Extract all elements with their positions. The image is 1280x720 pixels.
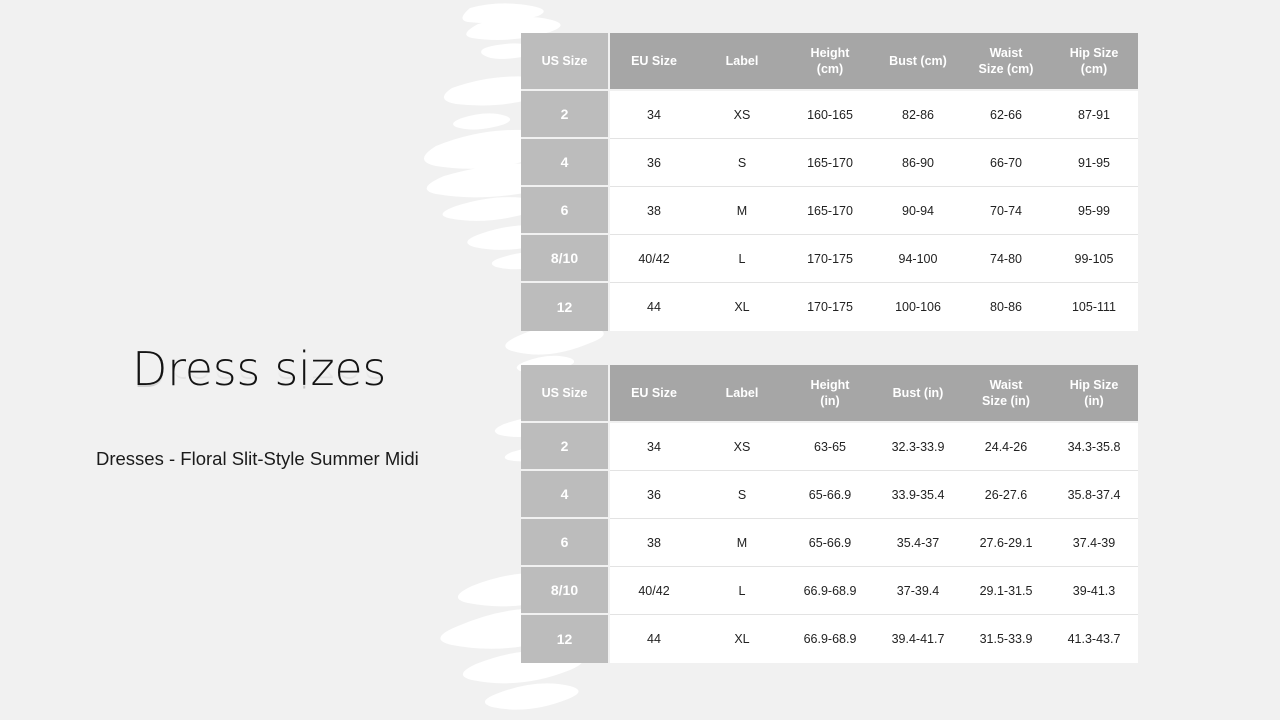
cell-hip: 37.4-39 [1050, 519, 1138, 567]
cell-eu-size: 38 [610, 187, 698, 235]
cell-bust: 100-106 [874, 283, 962, 331]
cell-waist: 70-74 [962, 187, 1050, 235]
cell-label: XS [698, 423, 786, 471]
cell-label: XS [698, 91, 786, 139]
cell-height: 170-175 [786, 283, 874, 331]
cell-bust: 32.3-33.9 [874, 423, 962, 471]
header-line-2: (cm) [817, 62, 843, 76]
cell-height: 65-66.9 [786, 471, 874, 519]
header-line-1: US Size [542, 54, 588, 68]
table-row: 8/10 40/42 L 66.9-68.9 37-39.4 29.1-31.5… [521, 567, 1138, 615]
table-row: 6 38 M 165-170 90-94 70-74 95-99 [521, 187, 1138, 235]
cell-waist: 74-80 [962, 235, 1050, 283]
cell-height: 63-65 [786, 423, 874, 471]
cell-us-size: 4 [521, 471, 610, 519]
header-line-1: Label [726, 54, 759, 68]
col-header-bust: Bust (cm) [874, 33, 962, 91]
cell-label: M [698, 519, 786, 567]
cell-bust: 82-86 [874, 91, 962, 139]
cell-label: L [698, 567, 786, 615]
cell-height: 165-170 [786, 187, 874, 235]
table-row: 2 34 XS 63-65 32.3-33.9 24.4-26 34.3-35.… [521, 423, 1138, 471]
cell-bust: 37-39.4 [874, 567, 962, 615]
col-header-hip: Hip Size (cm) [1050, 33, 1138, 91]
table-row: 6 38 M 65-66.9 35.4-37 27.6-29.1 37.4-39 [521, 519, 1138, 567]
cell-us-size: 6 [521, 187, 610, 235]
cell-bust: 86-90 [874, 139, 962, 187]
table-row: 2 34 XS 160-165 82-86 62-66 87-91 [521, 91, 1138, 139]
col-header-height: Height (cm) [786, 33, 874, 91]
cell-bust: 35.4-37 [874, 519, 962, 567]
cell-us-size: 2 [521, 423, 610, 471]
cell-eu-size: 44 [610, 283, 698, 331]
col-header-label: Label [698, 365, 786, 423]
cell-height: 160-165 [786, 91, 874, 139]
cell-us-size: 12 [521, 615, 610, 663]
cell-us-size: 2 [521, 91, 610, 139]
table-row: 8/10 40/42 L 170-175 94-100 74-80 99-105 [521, 235, 1138, 283]
cell-height: 165-170 [786, 139, 874, 187]
cell-bust: 33.9-35.4 [874, 471, 962, 519]
cell-hip: 95-99 [1050, 187, 1138, 235]
header-line-1: EU Size [631, 386, 677, 400]
table-row: 12 44 XL 66.9-68.9 39.4-41.7 31.5-33.9 4… [521, 615, 1138, 663]
cell-bust: 90-94 [874, 187, 962, 235]
cell-label: XL [698, 283, 786, 331]
cell-label: M [698, 187, 786, 235]
cell-us-size: 8/10 [521, 235, 610, 283]
header-line-2: Size (cm) [979, 62, 1034, 76]
cell-bust: 39.4-41.7 [874, 615, 962, 663]
table-header-row: US Size EU Size Label Height (cm) Bust (… [521, 33, 1138, 91]
col-header-eu-size: EU Size [610, 365, 698, 423]
cell-label: S [698, 471, 786, 519]
cell-label: XL [698, 615, 786, 663]
cell-waist: 80-86 [962, 283, 1050, 331]
header-line-2: (cm) [1081, 62, 1107, 76]
cell-us-size: 12 [521, 283, 610, 331]
header-line-1: Hip Size [1070, 46, 1119, 60]
header-line-1: Bust (in) [893, 386, 944, 400]
cell-waist: 66-70 [962, 139, 1050, 187]
header-line-2: Size (in) [982, 394, 1030, 408]
header-line-1: Bust (cm) [889, 54, 947, 68]
cell-eu-size: 38 [610, 519, 698, 567]
col-header-bust: Bust (in) [874, 365, 962, 423]
col-header-waist: Waist Size (cm) [962, 33, 1050, 91]
page-title-reflection: Dress sizes [132, 361, 456, 395]
header-line-1: Label [726, 386, 759, 400]
col-header-height: Height (in) [786, 365, 874, 423]
cell-height: 66.9-68.9 [786, 615, 874, 663]
cell-waist: 27.6-29.1 [962, 519, 1050, 567]
cell-label: S [698, 139, 786, 187]
title-block: Dress sizes Dress sizes Dresses - Floral… [96, 343, 456, 474]
cell-eu-size: 36 [610, 139, 698, 187]
cell-hip: 34.3-35.8 [1050, 423, 1138, 471]
header-line-1: Height [811, 378, 850, 392]
table-header-row: US Size EU Size Label Height (in) Bust (… [521, 365, 1138, 423]
cell-waist: 26-27.6 [962, 471, 1050, 519]
cell-height: 170-175 [786, 235, 874, 283]
col-header-label: Label [698, 33, 786, 91]
cell-hip: 35.8-37.4 [1050, 471, 1138, 519]
cell-us-size: 8/10 [521, 567, 610, 615]
header-line-2: (in) [1084, 394, 1103, 408]
cell-hip: 99-105 [1050, 235, 1138, 283]
slide-canvas: Dress sizes Dress sizes Dresses - Floral… [0, 0, 1280, 720]
col-header-waist: Waist Size (in) [962, 365, 1050, 423]
header-line-1: Hip Size [1070, 378, 1119, 392]
cell-waist: 29.1-31.5 [962, 567, 1050, 615]
cell-waist: 62-66 [962, 91, 1050, 139]
cell-eu-size: 40/42 [610, 235, 698, 283]
size-chart-table-cm: US Size EU Size Label Height (cm) Bust (… [521, 33, 1138, 331]
cell-us-size: 6 [521, 519, 610, 567]
cell-hip: 91-95 [1050, 139, 1138, 187]
cell-hip: 105-111 [1050, 283, 1138, 331]
table-row: 12 44 XL 170-175 100-106 80-86 105-111 [521, 283, 1138, 331]
header-line-1: Height [811, 46, 850, 60]
header-line-1: US Size [542, 386, 588, 400]
size-chart-table-in: US Size EU Size Label Height (in) Bust (… [521, 365, 1138, 663]
cell-eu-size: 44 [610, 615, 698, 663]
cell-eu-size: 36 [610, 471, 698, 519]
cell-height: 65-66.9 [786, 519, 874, 567]
col-header-us-size: US Size [521, 365, 610, 423]
table-row: 4 36 S 165-170 86-90 66-70 91-95 [521, 139, 1138, 187]
cell-hip: 41.3-43.7 [1050, 615, 1138, 663]
cell-waist: 24.4-26 [962, 423, 1050, 471]
page-subtitle: Dresses - Floral Slit-Style Summer Midi [96, 445, 436, 474]
col-header-eu-size: EU Size [610, 33, 698, 91]
cell-waist: 31.5-33.9 [962, 615, 1050, 663]
cell-height: 66.9-68.9 [786, 567, 874, 615]
header-line-2: (in) [820, 394, 839, 408]
cell-eu-size: 40/42 [610, 567, 698, 615]
col-header-hip: Hip Size (in) [1050, 365, 1138, 423]
cell-us-size: 4 [521, 139, 610, 187]
cell-label: L [698, 235, 786, 283]
header-line-1: EU Size [631, 54, 677, 68]
cell-eu-size: 34 [610, 91, 698, 139]
header-line-1: Waist [990, 378, 1023, 392]
cell-eu-size: 34 [610, 423, 698, 471]
cell-hip: 87-91 [1050, 91, 1138, 139]
cell-bust: 94-100 [874, 235, 962, 283]
header-line-1: Waist [990, 46, 1023, 60]
cell-hip: 39-41.3 [1050, 567, 1138, 615]
col-header-us-size: US Size [521, 33, 610, 91]
table-row: 4 36 S 65-66.9 33.9-35.4 26-27.6 35.8-37… [521, 471, 1138, 519]
